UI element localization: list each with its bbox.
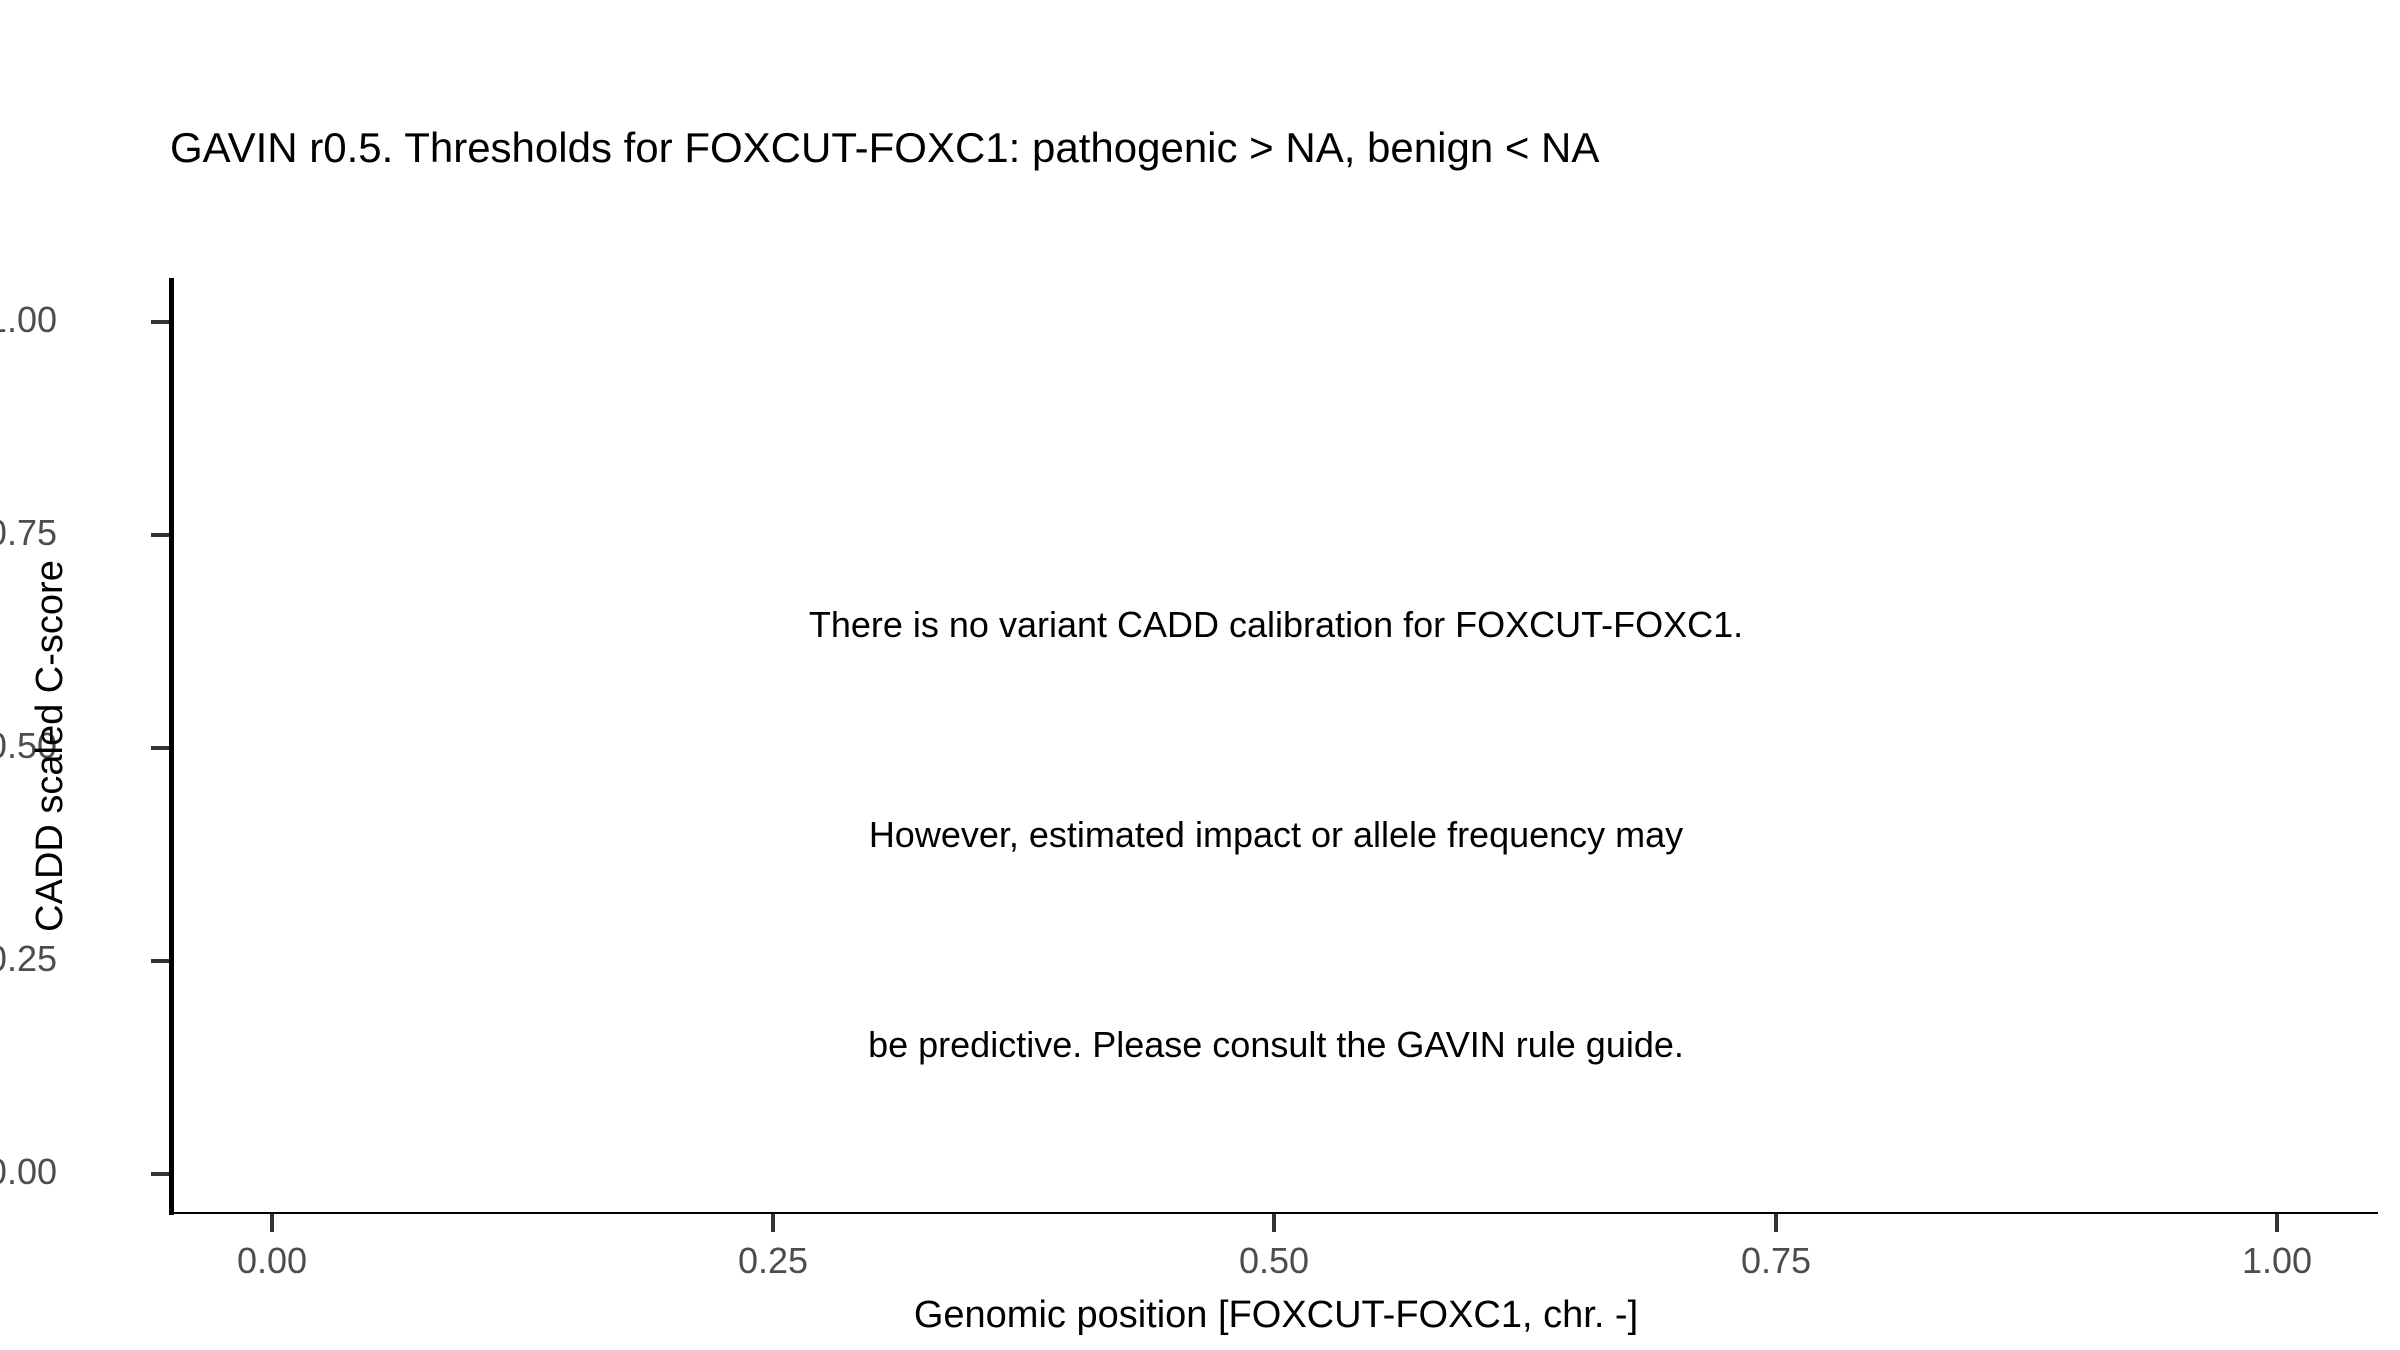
y-tick-mark-0.00 (151, 1172, 169, 1176)
x-tick-label-0.75: 0.75 (1656, 1243, 1896, 1279)
y-tick-mark-0.25 (151, 959, 169, 963)
panel-annotation-line-2: However, estimated impact or allele freq… (174, 800, 2378, 870)
y-tick-mark-0.50 (151, 746, 169, 750)
x-tick-mark-0.50 (1272, 1214, 1276, 1232)
x-tick-mark-0.25 (771, 1214, 775, 1232)
x-tick-label-0.50: 0.50 (1154, 1243, 1394, 1279)
x-tick-mark-0.75 (1774, 1214, 1778, 1232)
y-tick-mark-1.00 (151, 320, 169, 324)
panel-annotation: There is no variant CADD calibration for… (174, 450, 2378, 1220)
panel-annotation-line-1: There is no variant CADD calibration for… (174, 590, 2378, 660)
x-axis-title: Genomic position [FOXCUT-FOXC1, chr. -] (174, 1296, 2378, 1334)
plot-figure: GAVIN r0.5. Thresholds for FOXCUT-FOXC1:… (0, 0, 2400, 1350)
x-tick-mark-0.00 (270, 1214, 274, 1232)
y-tick-mark-0.75 (151, 533, 169, 537)
x-tick-label-1.00: 1.00 (2157, 1243, 2397, 1279)
panel-annotation-line-3: be predictive. Please consult the GAVIN … (174, 1010, 2378, 1080)
y-axis-title: CADD scaled C-score (31, 316, 69, 1176)
plot-panel: There is no variant CADD calibration for… (174, 278, 2378, 1212)
x-tick-mark-1.00 (2275, 1214, 2279, 1232)
plot-title-line-1: GAVIN r0.5. Thresholds for FOXCUT-FOXC1:… (170, 120, 2370, 176)
x-tick-label-0.00: 0.00 (152, 1243, 392, 1279)
x-tick-label-0.25: 0.25 (653, 1243, 893, 1279)
